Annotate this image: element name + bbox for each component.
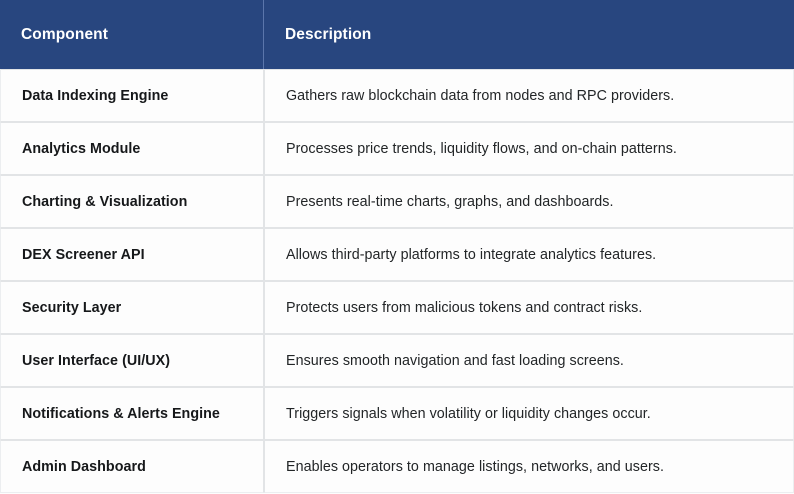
- cell-component: Charting & Visualization: [0, 175, 264, 228]
- table-row: Admin Dashboard Enables operators to man…: [0, 440, 794, 493]
- cell-description: Gathers raw blockchain data from nodes a…: [264, 69, 794, 122]
- table-header-row: Component Description: [0, 0, 794, 69]
- table-row: Notifications & Alerts Engine Triggers s…: [0, 387, 794, 440]
- cell-description: Processes price trends, liquidity flows,…: [264, 122, 794, 175]
- cell-component: Security Layer: [0, 281, 264, 334]
- cell-component: DEX Screener API: [0, 228, 264, 281]
- cell-description: Allows third-party platforms to integrat…: [264, 228, 794, 281]
- table-row: Security Layer Protects users from malic…: [0, 281, 794, 334]
- cell-component: User Interface (UI/UX): [0, 334, 264, 387]
- component-description-table: Component Description Data Indexing Engi…: [0, 0, 794, 493]
- table-header: Component Description: [0, 0, 794, 69]
- column-header-component: Component: [0, 0, 264, 69]
- cell-description: Presents real-time charts, graphs, and d…: [264, 175, 794, 228]
- table-row: Charting & Visualization Presents real-t…: [0, 175, 794, 228]
- component-table-container: Component Description Data Indexing Engi…: [0, 0, 794, 494]
- table-body: Data Indexing Engine Gathers raw blockch…: [0, 69, 794, 493]
- table-row: Data Indexing Engine Gathers raw blockch…: [0, 69, 794, 122]
- column-header-description: Description: [264, 0, 794, 69]
- cell-component: Data Indexing Engine: [0, 69, 264, 122]
- cell-description: Ensures smooth navigation and fast loadi…: [264, 334, 794, 387]
- cell-component: Notifications & Alerts Engine: [0, 387, 264, 440]
- cell-component: Analytics Module: [0, 122, 264, 175]
- table-row: Analytics Module Processes price trends,…: [0, 122, 794, 175]
- table-row: DEX Screener API Allows third-party plat…: [0, 228, 794, 281]
- cell-description: Enables operators to manage listings, ne…: [264, 440, 794, 493]
- cell-description: Triggers signals when volatility or liqu…: [264, 387, 794, 440]
- cell-component: Admin Dashboard: [0, 440, 264, 493]
- table-row: User Interface (UI/UX) Ensures smooth na…: [0, 334, 794, 387]
- cell-description: Protects users from malicious tokens and…: [264, 281, 794, 334]
